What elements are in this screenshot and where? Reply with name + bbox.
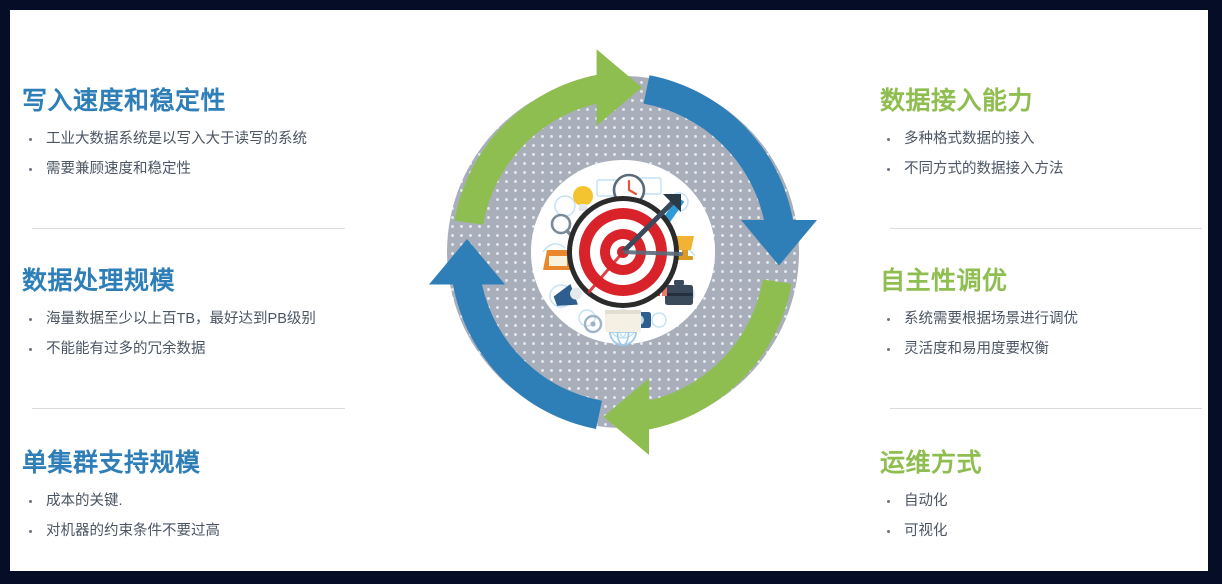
- section-bullet-list: 自动化 可视化: [880, 492, 1210, 542]
- section-operations-mode: 运维方式 自动化 可视化: [880, 450, 1210, 553]
- section-data-processing-scale: 数据处理规模 海量数据至少以上百TB，最好达到PB级别 不能能有过多的冗余数据: [22, 268, 352, 371]
- section-divider: [32, 408, 345, 409]
- section-title: 数据接入能力: [880, 88, 1210, 116]
- list-item: 工业大数据系统是以写入大于读写的系统: [22, 130, 352, 150]
- section-title: 单集群支持规模: [22, 450, 352, 478]
- list-item: 系统需要根据场景进行调优: [880, 310, 1210, 330]
- section-title: 数据处理规模: [22, 268, 352, 296]
- list-item: 海量数据至少以上百TB，最好达到PB级别: [22, 310, 352, 330]
- slide-canvas: 写入速度和稳定性 工业大数据系统是以写入大于读写的系统 需要兼顾速度和稳定性 数…: [10, 10, 1208, 571]
- section-bullet-list: 成本的关键. 对机器的约束条件不要过高: [22, 492, 352, 542]
- list-item: 不同方式的数据接入方法: [880, 160, 1210, 180]
- list-item: 多种格式数据的接入: [880, 130, 1210, 150]
- section-cluster-scale: 单集群支持规模 成本的关键. 对机器的约束条件不要过高: [22, 450, 352, 553]
- list-item: 自动化: [880, 492, 1210, 512]
- section-divider: [890, 228, 1202, 229]
- list-item: 灵活度和易用度要权衡: [880, 340, 1210, 360]
- section-title: 自主性调优: [880, 268, 1210, 296]
- list-item: 对机器的约束条件不要过高: [22, 522, 352, 542]
- section-divider: [890, 408, 1202, 409]
- section-bullet-list: 海量数据至少以上百TB，最好达到PB级别 不能能有过多的冗余数据: [22, 310, 352, 360]
- section-bullet-list: 多种格式数据的接入 不同方式的数据接入方法: [880, 130, 1210, 180]
- section-data-ingestion: 数据接入能力 多种格式数据的接入 不同方式的数据接入方法: [880, 88, 1210, 191]
- section-title: 运维方式: [880, 450, 1210, 478]
- podium-icon: [605, 310, 641, 332]
- section-title: 写入速度和稳定性: [22, 88, 352, 116]
- section-autonomous-tuning: 自主性调优 系统需要根据场景进行调优 灵活度和易用度要权衡: [880, 268, 1210, 371]
- section-divider: [32, 228, 345, 229]
- list-item: 不能能有过多的冗余数据: [22, 340, 352, 360]
- list-item: 需要兼顾速度和稳定性: [22, 160, 352, 180]
- list-item: 可视化: [880, 522, 1210, 542]
- cyclic-arrow-diagram: [403, 24, 843, 474]
- section-bullet-list: 工业大数据系统是以写入大于读写的系统 需要兼顾速度和稳定性: [22, 130, 352, 180]
- section-bullet-list: 系统需要根据场景进行调优 灵活度和易用度要权衡: [880, 310, 1210, 360]
- section-write-speed: 写入速度和稳定性 工业大数据系统是以写入大于读写的系统 需要兼顾速度和稳定性: [22, 88, 352, 191]
- slide-root: 写入速度和稳定性 工业大数据系统是以写入大于读写的系统 需要兼顾速度和稳定性 数…: [0, 0, 1222, 584]
- list-item: 成本的关键.: [22, 492, 352, 512]
